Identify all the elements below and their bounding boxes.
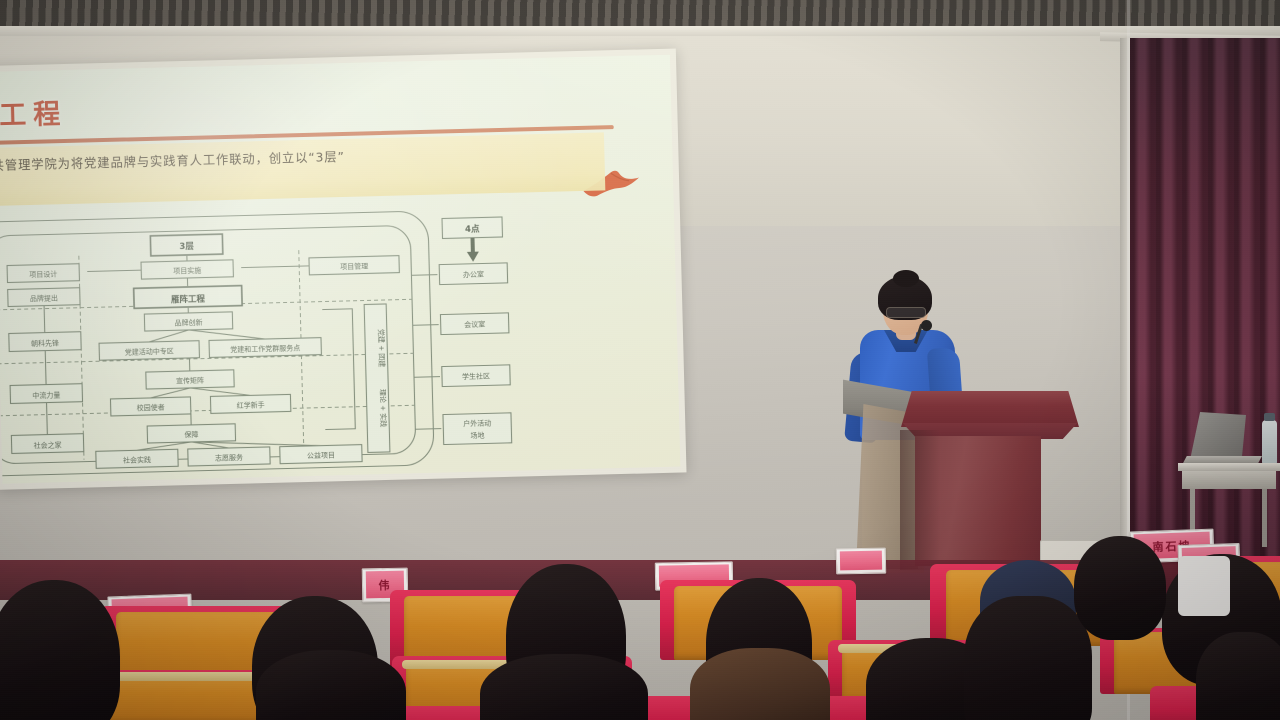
nameplate-surface: [840, 551, 882, 571]
svg-text:公益项目: 公益项目: [307, 450, 335, 460]
nameplate: [836, 548, 886, 575]
stage-curtain: [1130, 38, 1280, 598]
podium-top: [901, 391, 1079, 427]
svg-text:品牌提出: 品牌提出: [30, 293, 58, 303]
svg-text:社会之家: 社会之家: [34, 440, 62, 450]
audience-head: [964, 596, 1092, 720]
svg-text:社会实践: 社会实践: [123, 455, 151, 465]
svg-text:党建和工作党群服务点: 党建和工作党群服务点: [230, 343, 300, 354]
svg-text:朝科先锋: 朝科先锋: [31, 338, 59, 348]
water-bottle: [1262, 420, 1277, 464]
nameplate-text: 伟: [378, 576, 391, 592]
photo-scene: 雁阵工程 月，政治与公共管理学院为将党建品牌与实践育人工作联动，创立以“3层” …: [0, 0, 1280, 720]
slide-title: 雁阵工程: [0, 84, 402, 135]
svg-text:学生社区: 学生社区: [462, 371, 490, 381]
svg-text:品牌创新: 品牌创新: [174, 318, 202, 328]
audience-shoulders: [1196, 632, 1280, 720]
audience-white-shirt: [1178, 556, 1230, 616]
ceiling-rail: [0, 26, 1280, 36]
svg-text:宣传矩阵: 宣传矩阵: [176, 376, 204, 386]
svg-text:会议室: 会议室: [464, 319, 485, 329]
audience-head: [1074, 536, 1166, 640]
svg-text:3层: 3层: [179, 242, 194, 252]
projection-screen: 雁阵工程 月，政治与公共管理学院为将党建品牌与实践育人工作联动，创立以“3层” …: [0, 49, 687, 490]
svg-text:雁阵工程: 雁阵工程: [171, 294, 206, 306]
svg-text:项目实施: 项目实施: [173, 266, 201, 276]
audience-head: [0, 580, 120, 720]
svg-text:红学新手: 红学新手: [237, 400, 265, 410]
svg-text:项目管理: 项目管理: [340, 261, 368, 271]
microphone-icon: [921, 320, 932, 331]
presenter-hair-bun: [893, 270, 919, 287]
svg-text:理论 + 实践: 理论 + 实践: [378, 389, 388, 428]
svg-text:中流力量: 中流力量: [32, 390, 60, 400]
svg-text:办公室: 办公室: [463, 269, 484, 279]
svg-text:志愿服务: 志愿服务: [215, 453, 243, 463]
svg-text:党建活动中专区: 党建活动中专区: [125, 346, 174, 356]
svg-text:场地: 场地: [470, 431, 484, 440]
svg-text:校园使者: 校园使者: [137, 403, 165, 413]
audience-seating: 戴祥玉 伟 南石坤: [0, 520, 1280, 720]
side-table-top: [1178, 463, 1280, 471]
projected-slide: 雁阵工程 月，政治与公共管理学院为将党建品牌与实践育人工作联动，创立以“3层” …: [0, 55, 680, 484]
svg-text:党建 + 团建: 党建 + 团建: [377, 329, 387, 368]
slide-diagram: .bx{fill:#eef5e6;stroke:#7f8c79;stroke-w…: [0, 202, 622, 484]
svg-text:项目设计: 项目设计: [29, 269, 57, 279]
glasses-icon: [886, 307, 926, 318]
svg-text:4点: 4点: [465, 224, 480, 235]
side-table-apron: [1182, 471, 1276, 489]
water-bottle-cap: [1264, 413, 1275, 421]
audience-shoulders: [256, 650, 406, 720]
svg-text:户外活动: 户外活动: [463, 418, 491, 428]
audience-shoulders: [480, 654, 648, 720]
audience-shoulders: [690, 648, 830, 720]
svg-text:保障: 保障: [184, 430, 198, 439]
